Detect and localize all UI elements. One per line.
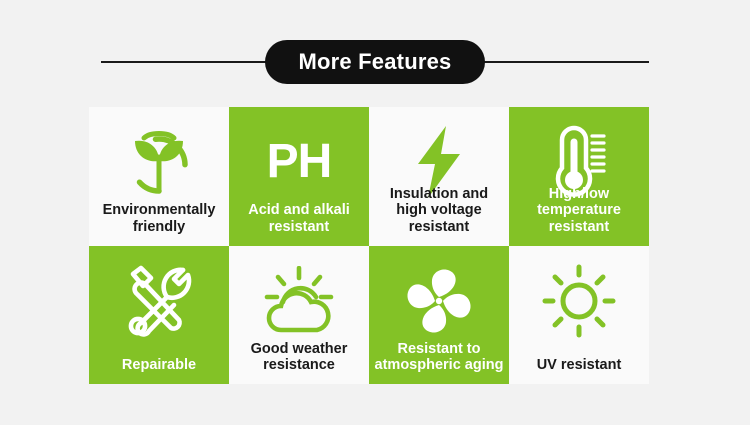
feature-cell-good-weather-resistance[interactable]: Good weather resistance bbox=[229, 246, 369, 385]
section-header: More Features bbox=[0, 38, 750, 86]
sun-icon bbox=[509, 258, 649, 344]
feature-cell-atmospheric-aging-resistant[interactable]: Resistant to atmospheric aging bbox=[369, 246, 509, 385]
feature-cell-acid-alkali-resistant[interactable]: PH Acid and alkali resistant bbox=[229, 107, 369, 246]
feature-label: UV resistant bbox=[509, 357, 649, 374]
feature-cell-uv-resistant[interactable]: UV resistant bbox=[509, 246, 649, 385]
ph-text-icon: PH bbox=[229, 119, 369, 205]
feature-label: Repairable bbox=[89, 357, 229, 374]
feature-label: High/low temperature resistant bbox=[509, 186, 649, 236]
feature-grid-page: More Features Environmentally friendly P… bbox=[0, 0, 750, 425]
feature-cell-environmentally-friendly[interactable]: Environmentally friendly bbox=[89, 107, 229, 246]
header-pill: More Features bbox=[265, 40, 485, 84]
features-grid: Environmentally friendly PH Acid and alk… bbox=[89, 107, 649, 384]
wrench-screwdriver-icon bbox=[89, 258, 229, 344]
fan-propeller-icon bbox=[369, 258, 509, 344]
ph-label: PH bbox=[267, 138, 332, 186]
sun-behind-cloud-icon bbox=[229, 258, 369, 344]
feature-label: Environmentally friendly bbox=[89, 202, 229, 235]
feature-label: Resistant to atmospheric aging bbox=[369, 341, 509, 374]
sprout-leaves-icon bbox=[89, 119, 229, 205]
feature-cell-temperature-resistant[interactable]: High/low temperature resistant bbox=[509, 107, 649, 246]
feature-label: Good weather resistance bbox=[229, 341, 369, 374]
header-rule-left bbox=[101, 61, 276, 63]
page-title: More Features bbox=[299, 51, 452, 73]
feature-label: Insulation and high voltage resistant bbox=[369, 186, 509, 236]
feature-label: Acid and alkali resistant bbox=[229, 202, 369, 235]
feature-cell-high-voltage-resistant[interactable]: Insulation and high voltage resistant bbox=[369, 107, 509, 246]
header-rule-right bbox=[474, 61, 649, 63]
feature-cell-repairable[interactable]: Repairable bbox=[89, 246, 229, 385]
